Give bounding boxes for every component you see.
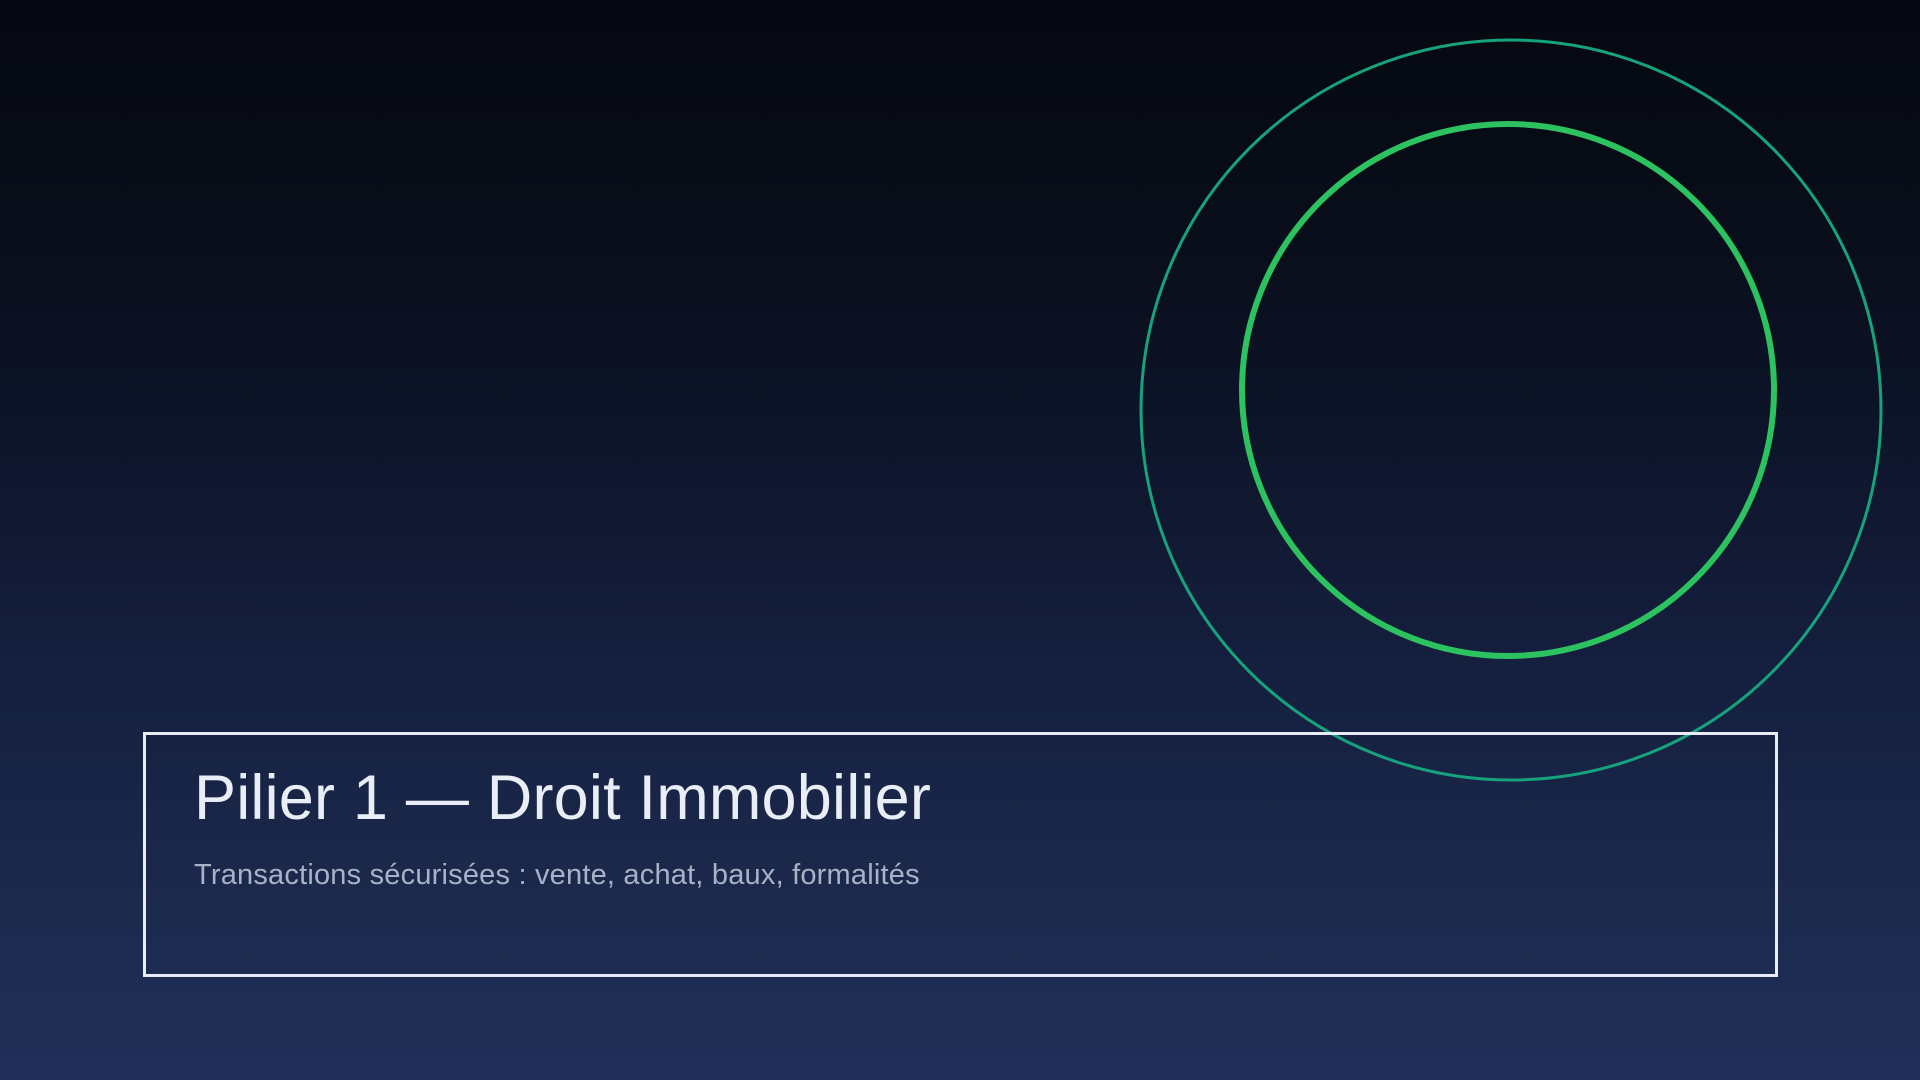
inner-ring-circle-icon bbox=[1242, 124, 1774, 656]
outer-ring-circle-icon bbox=[1141, 40, 1881, 780]
page-title: Pilier 1 — Droit Immobilier bbox=[194, 763, 1775, 834]
title-card: Pilier 1 — Droit Immobilier Transactions… bbox=[143, 732, 1778, 977]
page-subtitle: Transactions sécurisées : vente, achat, … bbox=[194, 858, 1775, 893]
slide-canvas: Pilier 1 — Droit Immobilier Transactions… bbox=[0, 0, 1920, 1080]
